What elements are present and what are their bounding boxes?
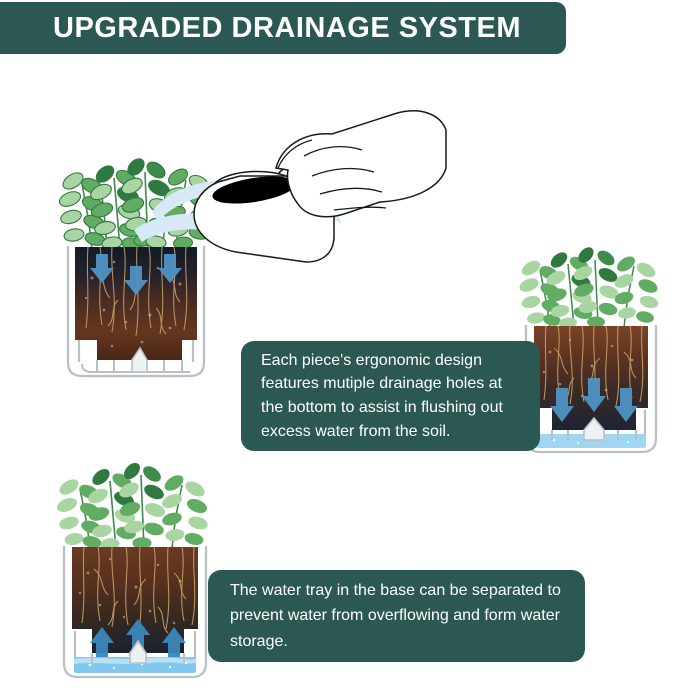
title-banner: UPGRADED DRAINAGE SYSTEM [0, 2, 566, 54]
callout-water-tray: The water tray in the base can be separa… [208, 570, 585, 662]
callout-drainage-holes-text: Each piece's ergonomic design features m… [261, 349, 520, 444]
foliage-group [517, 244, 659, 329]
hand [276, 111, 446, 217]
foliage-group [55, 460, 209, 551]
hand-watering-can-illustration [128, 84, 448, 284]
callout-water-tray-text: The water tray in the base can be separa… [230, 578, 563, 655]
infographic-canvas: UPGRADED DRAINAGE SYSTEM [0, 0, 679, 691]
page-title: UPGRADED DRAINAGE SYSTEM [31, 12, 521, 45]
planter-bottom-left-illustration [46, 455, 231, 687]
callout-drainage-holes: Each piece's ergonomic design features m… [241, 341, 540, 451]
